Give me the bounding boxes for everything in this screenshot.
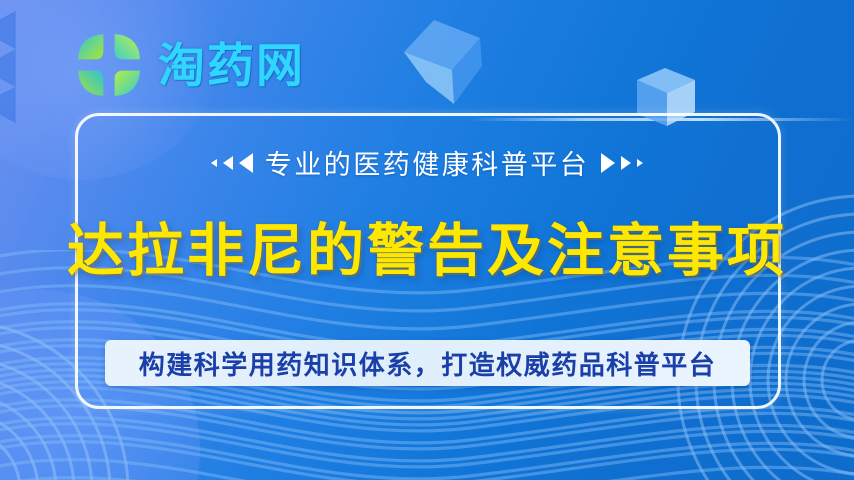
tagline-banner: 构建科学用药知识体系，打造权威药品科普平台	[105, 340, 750, 386]
page-title: 达拉非尼的警告及注意事项	[0, 219, 854, 285]
promo-banner: 淘药网 专业的医药健康科普平台 达拉非尼的警告及注意事项 构建科学用药知识体系，…	[0, 0, 854, 480]
brand-logo[interactable]: 淘药网	[74, 30, 305, 100]
triangle-right-arrows-icon	[601, 153, 643, 173]
medical-cross-logo-icon	[74, 30, 144, 100]
triangle-left-arrows-icon	[211, 153, 253, 173]
cube-3d-icon	[388, 8, 506, 118]
brand-name: 淘药网	[158, 42, 305, 89]
tagline-text: 构建科学用药知识体系，打造权威药品科普平台	[139, 345, 717, 382]
eyebrow-row: 专业的医药健康科普平台	[0, 143, 854, 182]
eyebrow-text: 专业的医药健康科普平台	[265, 143, 590, 182]
faceted-half-circle-icon	[0, 8, 74, 126]
